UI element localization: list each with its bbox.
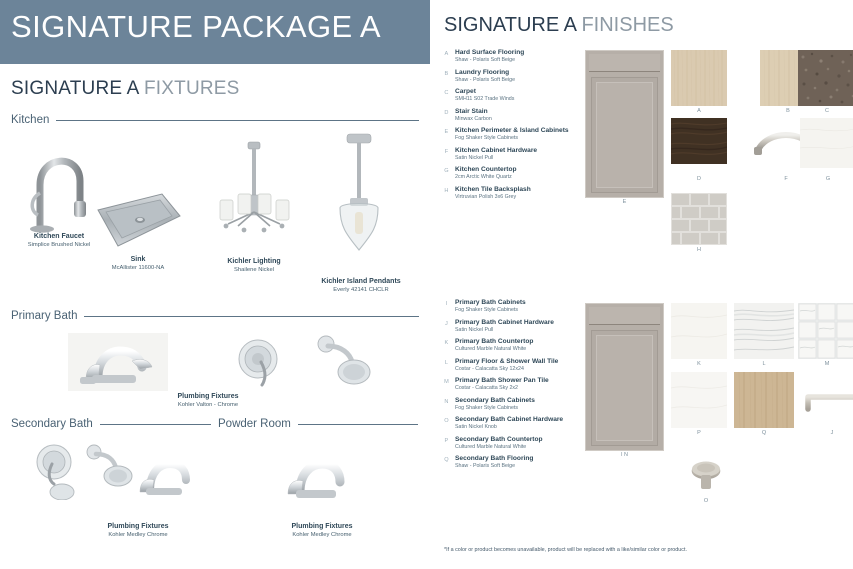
swatch-label-p: P bbox=[671, 430, 727, 436]
fixture-caption: Sink McAllister 11600-NA bbox=[88, 256, 188, 271]
finish-item: M Primary Bath Shower Pan Tile Costar - … bbox=[441, 377, 601, 394]
fixture-caption: Plumbing Fixtures Kohler Medley Chrome bbox=[78, 523, 198, 538]
swatch-label-l: L bbox=[734, 361, 794, 367]
group-kitchen-label: Kitchen bbox=[11, 114, 49, 126]
swatch-label-q: Q bbox=[734, 430, 794, 436]
fixture-name: Plumbing Fixtures bbox=[78, 523, 198, 531]
finish-spec: 2cm Arctic White Quartz bbox=[455, 174, 601, 181]
cabinet-panel bbox=[591, 330, 658, 446]
finish-name: Carpet bbox=[455, 88, 601, 96]
swatch-carpet bbox=[798, 50, 853, 106]
finish-item: O Secondary Bath Cabinet Hardware Satin … bbox=[441, 416, 601, 433]
finish-item: D Stair Stain Minwax Carbon bbox=[441, 108, 601, 125]
fixture-spec: Kohler Valton - Chrome bbox=[148, 402, 268, 409]
group-secondary-bath-label: Secondary Bath bbox=[11, 418, 93, 430]
cabinet-drawer bbox=[589, 54, 660, 72]
swatch-kitchen-cabinet bbox=[585, 50, 664, 198]
divider bbox=[298, 424, 418, 425]
fixture-caption: Kichler Lighting Shailene Nickel bbox=[200, 258, 308, 273]
cabinet-drawer bbox=[589, 307, 660, 325]
fixture-caption: Plumbing Fixtures Kohler Medley Chrome bbox=[262, 523, 382, 538]
footnote: *If a color or product becomes unavailab… bbox=[444, 547, 687, 553]
cabinet-panel bbox=[591, 77, 658, 193]
fixture-spec: Shailene Nickel bbox=[200, 267, 308, 274]
finish-letter: B bbox=[441, 71, 452, 77]
finish-letter: E bbox=[441, 129, 452, 135]
finish-spec: Fog Shaker Style Cabinets bbox=[455, 405, 601, 412]
fixture-name: Plumbing Fixtures bbox=[148, 393, 268, 401]
swatch-bath-hardware-knob bbox=[680, 459, 732, 499]
finish-letter: P bbox=[441, 438, 452, 444]
divider bbox=[100, 424, 211, 425]
finish-item: Q Secondary Bath Flooring Shaw - Polaris… bbox=[441, 455, 601, 472]
cabinet-panel-inner bbox=[596, 82, 653, 188]
finish-letter: I bbox=[441, 301, 452, 307]
finish-letter: O bbox=[441, 418, 452, 424]
finish-letter: J bbox=[441, 321, 452, 327]
swatch-label-k: K bbox=[671, 361, 727, 367]
finish-spec: Shaw - Polaris Soft Beige bbox=[455, 463, 601, 470]
finish-name: Kitchen Tile Backsplash bbox=[455, 186, 601, 194]
group-powder-room-label: Powder Room bbox=[218, 418, 291, 430]
group-powder-room: Powder Room bbox=[218, 418, 418, 430]
swatch-label-j: J bbox=[802, 430, 853, 436]
chandelier-icon bbox=[208, 138, 300, 248]
swatch-shower-pan-tile bbox=[798, 303, 853, 359]
finish-spec: Shaw - Polaris Soft Beige bbox=[455, 57, 601, 64]
lav-faucet-icon bbox=[128, 452, 194, 500]
fixture-spec: Everly 42141 CHCLR bbox=[302, 287, 420, 294]
swatch-kitchen-backsplash bbox=[671, 193, 727, 245]
swatch-label-o: O bbox=[680, 498, 732, 504]
finish-letter: C bbox=[441, 90, 452, 96]
finish-spec: Shaw - Polaris Soft Beige bbox=[455, 77, 601, 84]
finish-name: Stair Stain bbox=[455, 108, 601, 116]
finishes-panel: SIGNATURE A FINISHES A Hard Surface Floo… bbox=[430, 0, 853, 569]
finish-name: Laundry Flooring bbox=[455, 69, 601, 77]
group-kitchen: Kitchen bbox=[11, 114, 419, 126]
finishes-heading-secondary: FINISHES bbox=[581, 14, 673, 36]
divider bbox=[56, 120, 419, 121]
finish-item: I Primary Bath Cabinets Fog Shaker Style… bbox=[441, 299, 601, 316]
finish-spec: Fog Shaker Style Cabinets bbox=[455, 307, 601, 314]
swatch-stair-stain bbox=[671, 118, 727, 164]
finish-name: Primary Floor & Shower Wall Tile bbox=[455, 358, 601, 366]
finish-item: B Laundry Flooring Shaw - Polaris Soft B… bbox=[441, 69, 601, 86]
finish-spec: Minwax Carbon bbox=[455, 116, 601, 123]
finish-letter: L bbox=[441, 360, 452, 366]
cabinet-panel-inner bbox=[596, 335, 653, 441]
finish-item: P Secondary Bath Countertop Cultured Mar… bbox=[441, 436, 601, 453]
swatch-label-a: A bbox=[671, 108, 727, 114]
finish-item: L Primary Floor & Shower Wall Tile Costa… bbox=[441, 358, 601, 375]
signature-package-sheet: SIGNATURE PACKAGE A SIGNATURE A FIXTURES… bbox=[0, 0, 853, 569]
fixture-spec: Kohler Medley Chrome bbox=[262, 532, 382, 539]
swatch-bath-cabinet bbox=[585, 303, 664, 451]
group-primary-bath-label: Primary Bath bbox=[11, 310, 77, 322]
finish-letter: G bbox=[441, 168, 452, 174]
fixtures-panel: SIGNATURE PACKAGE A SIGNATURE A FIXTURES… bbox=[0, 0, 430, 569]
shower-valve-icon bbox=[228, 333, 298, 393]
shower-valve-icon bbox=[28, 440, 86, 500]
finish-spec: Satin Nickel Knob bbox=[455, 424, 601, 431]
finish-spec: Costar - Calacatta Sky 12x24 bbox=[455, 366, 601, 373]
fixtures-heading-primary: SIGNATURE A bbox=[11, 78, 139, 99]
finish-spec: Fog Shaker Style Cabinets bbox=[455, 135, 601, 142]
finish-item: C Carpet SMH11 S02 Trade Winds bbox=[441, 88, 601, 105]
finish-name: Secondary Bath Flooring bbox=[455, 455, 601, 463]
swatch-label-d: D bbox=[671, 176, 727, 182]
swatch-bath-hardware-pull bbox=[802, 385, 853, 419]
lav-faucet-icon bbox=[68, 333, 168, 391]
group-secondary-bath: Secondary Bath bbox=[11, 418, 211, 430]
lav-faucet-icon bbox=[276, 452, 352, 504]
finish-spec: Costar - Calacatta Sky 2x2 bbox=[455, 385, 601, 392]
fixture-name: Kichler Lighting bbox=[200, 258, 308, 266]
finish-letter: N bbox=[441, 399, 452, 405]
swatch-label-m: M bbox=[798, 361, 853, 367]
pendant-light-icon bbox=[320, 132, 398, 272]
page-title: SIGNATURE PACKAGE A bbox=[11, 9, 381, 45]
swatch-primary-countertop bbox=[671, 303, 727, 359]
finish-item: E Kitchen Perimeter & Island Cabinets Fo… bbox=[441, 127, 601, 144]
fixture-spec: McAllister 11600-NA bbox=[88, 265, 188, 272]
finish-spec: Satin Nickel Pull bbox=[455, 327, 601, 334]
finish-letter: F bbox=[441, 149, 452, 155]
swatch-primary-wall-tile bbox=[734, 303, 794, 359]
finish-letter: K bbox=[441, 340, 452, 346]
fixture-caption: Kichler Island Pendants Everly 42141 CHC… bbox=[302, 278, 420, 293]
finish-letter: M bbox=[441, 379, 452, 385]
finish-item: N Secondary Bath Cabinets Fog Shaker Sty… bbox=[441, 397, 601, 414]
fixtures-heading: SIGNATURE A FIXTURES bbox=[11, 78, 240, 100]
finish-name: Secondary Bath Cabinets bbox=[455, 397, 601, 405]
finish-spec: SMH11 S02 Trade Winds bbox=[455, 96, 601, 103]
finish-name: Primary Bath Shower Pan Tile bbox=[455, 377, 601, 385]
fixture-caption: Plumbing Fixtures Kohler Valton - Chrome bbox=[148, 393, 268, 408]
finish-spec: Cultured Marble Natural White bbox=[455, 444, 601, 451]
sink-icon bbox=[92, 190, 184, 252]
finish-name: Kitchen Cabinet Hardware bbox=[455, 147, 601, 155]
swatch-secondary-flooring bbox=[734, 372, 794, 428]
finish-item: G Kitchen Countertop 2cm Arctic White Qu… bbox=[441, 166, 601, 183]
finish-name: Primary Bath Cabinets bbox=[455, 299, 601, 307]
showerhead-icon bbox=[308, 330, 378, 392]
fixture-name: Sink bbox=[88, 256, 188, 264]
fixture-name: Kichler Island Pendants bbox=[302, 278, 420, 286]
finish-letter: A bbox=[441, 51, 452, 57]
finish-spec: Satin Nickel Pull bbox=[455, 155, 601, 162]
finish-item: J Primary Bath Cabinet Hardware Satin Ni… bbox=[441, 319, 601, 336]
fixture-name: Plumbing Fixtures bbox=[262, 523, 382, 531]
swatch-label-c: C bbox=[798, 108, 853, 114]
kitchen-faucet-icon bbox=[18, 133, 98, 233]
finishes-list-bottom: I Primary Bath Cabinets Fog Shaker Style… bbox=[441, 299, 601, 475]
fixture-spec: Kohler Medley Chrome bbox=[78, 532, 198, 539]
finish-name: Kitchen Perimeter & Island Cabinets bbox=[455, 127, 601, 135]
finish-letter: D bbox=[441, 110, 452, 116]
finish-item: H Kitchen Tile Backsplash Virtruvian Pol… bbox=[441, 186, 601, 203]
finish-name: Secondary Bath Countertop bbox=[455, 436, 601, 444]
fixtures-heading-secondary: FIXTURES bbox=[144, 78, 240, 99]
finish-name: Kitchen Countertop bbox=[455, 166, 601, 174]
swatch-label-in: I N bbox=[585, 452, 664, 458]
swatch-kitchen-countertop bbox=[800, 118, 853, 168]
finishes-list-top: A Hard Surface Flooring Shaw - Polaris S… bbox=[441, 49, 601, 205]
finish-item: K Primary Bath Countertop Cultured Marbl… bbox=[441, 338, 601, 355]
finish-name: Hard Surface Flooring bbox=[455, 49, 601, 57]
swatch-label-e: E bbox=[585, 199, 664, 205]
swatch-secondary-countertop bbox=[671, 372, 727, 428]
finish-name: Secondary Bath Cabinet Hardware bbox=[455, 416, 601, 424]
swatch-label-g: G bbox=[800, 176, 853, 182]
finishes-heading: SIGNATURE A FINISHES bbox=[444, 14, 674, 37]
finish-name: Primary Bath Countertop bbox=[455, 338, 601, 346]
finish-item: A Hard Surface Flooring Shaw - Polaris S… bbox=[441, 49, 601, 66]
swatch-label-h: H bbox=[671, 247, 727, 253]
divider bbox=[84, 316, 419, 317]
group-primary-bath: Primary Bath bbox=[11, 310, 419, 322]
finish-letter: Q bbox=[441, 457, 452, 463]
finish-spec: Virtruvian Polish 3x6 Grey bbox=[455, 194, 601, 201]
finish-item: F Kitchen Cabinet Hardware Satin Nickel … bbox=[441, 147, 601, 164]
finish-letter: H bbox=[441, 188, 452, 194]
finishes-heading-primary: SIGNATURE A bbox=[444, 14, 576, 36]
finish-name: Primary Bath Cabinet Hardware bbox=[455, 319, 601, 327]
finish-spec: Cultured Marble Natural White bbox=[455, 346, 601, 353]
title-bar: SIGNATURE PACKAGE A bbox=[0, 0, 430, 64]
swatch-hard-surface-flooring bbox=[671, 50, 727, 106]
